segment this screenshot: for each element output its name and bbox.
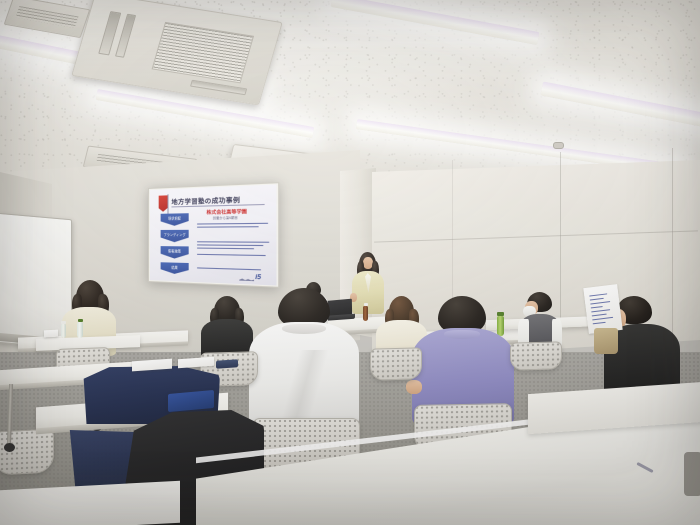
slide-note-4 <box>197 267 271 269</box>
tan-bag <box>594 328 618 354</box>
tissue-packet <box>44 330 58 338</box>
chair-arm-right <box>684 452 700 496</box>
presentation-slide: 地方学習塾の成功事例 株式会社高等学園 創業から第5期目 現状把握 ブランディン… <box>150 185 276 286</box>
brown-bottle <box>363 306 368 321</box>
water-bottle-2-cap <box>61 321 66 324</box>
slide-flag-pole <box>168 194 169 213</box>
water-bottle <box>77 322 83 338</box>
slide-note-3 <box>197 254 271 255</box>
projection-screen: 地方学習塾の成功事例 株式会社高等学園 創業から第5期目 現状把握 ブランディン… <box>148 188 270 282</box>
slide-chevron-2: ブランディング <box>161 230 189 242</box>
attendee-white-shirt-fold <box>278 350 332 420</box>
attendee-white-shirt-collar <box>282 324 326 334</box>
smoke-detector-icon <box>553 142 564 149</box>
slide-logo: i5 <box>255 275 261 282</box>
slide-note-1 <box>197 223 271 224</box>
slide-chevron-4: 結果 <box>161 262 189 274</box>
brown-bottle-cap <box>364 303 368 306</box>
handout-paper <box>583 284 622 334</box>
water-bottle-2 <box>61 324 66 338</box>
seminar-room-photo: 地方学習塾の成功事例 株式会社高等学園 創業から第5期目 現状把握 ブランディン… <box>0 0 700 525</box>
attendee-white-shirt <box>248 288 360 428</box>
slide-chevron-3: 集客施策 <box>161 246 189 259</box>
chair-back-cream-sweater <box>370 347 422 380</box>
attendee-lavender-collar <box>444 330 480 339</box>
slide-flag-icon <box>159 195 168 211</box>
table-caster-1 <box>4 443 15 452</box>
slide-chevron-1: 現状把握 <box>161 213 189 226</box>
slide-logo-mark <box>239 278 254 281</box>
ac-grille <box>152 22 255 83</box>
slide-subheading: 創業から第5期目 <box>213 215 272 220</box>
attendee-lavender-hand <box>406 380 422 394</box>
phone <box>216 359 238 369</box>
chair-back-masked <box>510 341 562 370</box>
water-bottle-cap <box>78 319 83 322</box>
